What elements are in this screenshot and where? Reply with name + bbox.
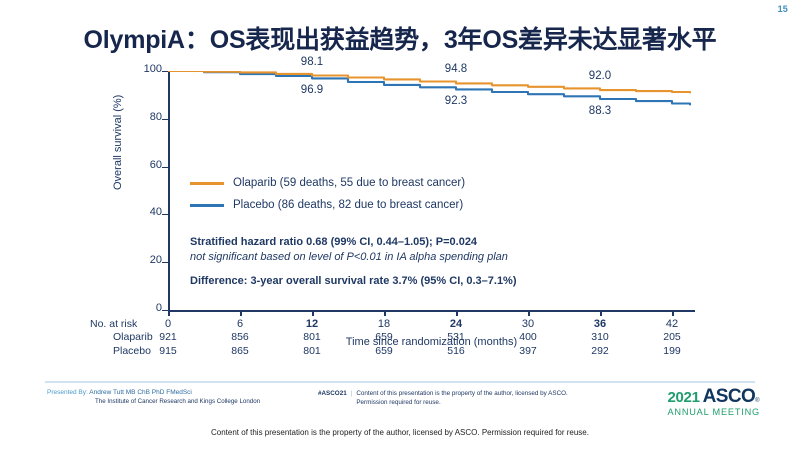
risk-value: 801 <box>303 331 321 343</box>
hazard-ratio-text: Stratified hazard ratio 0.68 (99% CI, 0.… <box>190 235 517 250</box>
y-tick-label: 80 <box>126 111 162 123</box>
risk-table-title: No. at risk <box>90 318 137 330</box>
y-tick-label: 60 <box>126 159 162 171</box>
presenter-info: Presented By: Andrew Tutt MB ChB PhD FMe… <box>47 389 260 405</box>
risk-value: 659 <box>375 331 393 343</box>
bottom-disclaimer: Content of this presentation is the prop… <box>0 428 800 437</box>
risk-value: 400 <box>519 331 537 343</box>
y-tick-mark <box>162 214 168 215</box>
x-tick-mark <box>240 310 242 316</box>
risk-row-label-placebo: Placebo <box>113 345 151 357</box>
legend-label-placebo: Placebo (86 deaths, 82 due to breast can… <box>233 199 463 211</box>
y-tick-mark <box>162 167 168 168</box>
data-label-98-1: 98.1 <box>301 56 323 68</box>
y-tick-mark <box>162 71 168 72</box>
footer-divider <box>45 381 755 383</box>
asco-hashtag: #ASCO21 <box>318 390 347 397</box>
difference-text: Difference: 3-year overall survival rate… <box>190 274 517 289</box>
legend-item-olaparib: Olaparib (59 deaths, 55 due to breast ca… <box>190 172 465 194</box>
x-tick-mark <box>384 310 386 316</box>
x-tick-mark <box>456 310 458 316</box>
y-tick-label: 20 <box>126 254 162 266</box>
risk-value: 801 <box>303 345 321 357</box>
risk-value: 205 <box>663 331 681 343</box>
rights-line-1: Content of this presentation is the prop… <box>356 390 567 397</box>
risk-value: 397 <box>519 345 537 357</box>
risk-row-label-olaparib: Olaparib <box>113 331 153 343</box>
curve-placebo <box>168 71 690 105</box>
divider-glyph: | <box>351 390 353 397</box>
risk-value: 531 <box>447 331 465 343</box>
risk-value: 292 <box>591 345 609 357</box>
x-tick-mark <box>600 310 602 316</box>
data-label-92-3: 92.3 <box>445 95 467 107</box>
slide-number: 15 <box>778 4 788 14</box>
risk-value: 865 <box>231 345 249 357</box>
risk-value: 199 <box>663 345 681 357</box>
legend-label-olaparib: Olaparib (59 deaths, 55 due to breast ca… <box>233 177 465 189</box>
legend-swatch-placebo <box>190 204 224 207</box>
risk-value: 856 <box>231 331 249 343</box>
risk-value: 921 <box>159 331 177 343</box>
y-tick-label: 100 <box>126 63 162 75</box>
significance-note: not significant based on level of P<0.01… <box>190 250 517 265</box>
y-tick-label: 0 <box>126 302 162 314</box>
y-tick-mark <box>162 262 168 263</box>
statistics-block: Stratified hazard ratio 0.68 (99% CI, 0.… <box>190 235 517 289</box>
data-label-92-0: 92.0 <box>589 70 611 82</box>
y-tick-label: 40 <box>126 206 162 218</box>
logo-year: 2021 <box>667 389 699 406</box>
asco-rights-notice: #ASCO21 | Content of this presentation i… <box>318 390 568 407</box>
data-label-94-8: 94.8 <box>445 63 467 75</box>
x-tick-mark <box>528 310 530 316</box>
page-title: OlympiA：OS表现出获益趋势，3年OS差异未达显著水平 <box>0 20 800 56</box>
logo-name: ASCO <box>703 386 756 408</box>
y-tick-mark <box>162 119 168 120</box>
x-tick-mark <box>312 310 314 316</box>
data-label-96-9: 96.9 <box>301 84 323 96</box>
risk-value: 659 <box>375 345 393 357</box>
risk-value: 915 <box>159 345 177 357</box>
presented-by-label: Presented By: <box>47 389 88 396</box>
risk-value: 516 <box>447 345 465 357</box>
y-axis-ticks: 020406080100 <box>118 60 162 310</box>
asco-logo: 2021 ASCO ® ANNUAL MEETING <box>667 386 760 417</box>
presenter-name: Andrew Tutt MB ChB PhD FMedSci <box>89 389 192 396</box>
x-tick-mark <box>672 310 674 316</box>
x-tick-mark <box>168 310 170 316</box>
presenter-affiliation: The Institute of Cancer Research and Kin… <box>95 398 260 405</box>
slide-root: 15 OlympiA：OS表现出获益趋势，3年OS差异未达显著水平 Overal… <box>0 0 800 450</box>
risk-value: 310 <box>591 331 609 343</box>
registered-trademark-icon: ® <box>755 398 759 404</box>
data-label-88-3: 88.3 <box>589 105 611 117</box>
logo-subtitle: ANNUAL MEETING <box>667 407 760 417</box>
legend-swatch-olaparib <box>190 182 224 185</box>
rights-line-2: Permission required for reuse. <box>356 399 440 406</box>
number-at-risk-table: No. at risk Olaparib92185680165953140031… <box>0 318 800 368</box>
chart-legend: Olaparib (59 deaths, 55 due to breast ca… <box>190 172 465 216</box>
legend-item-placebo: Placebo (86 deaths, 82 due to breast can… <box>190 194 465 216</box>
y-tick-mark <box>162 310 168 311</box>
